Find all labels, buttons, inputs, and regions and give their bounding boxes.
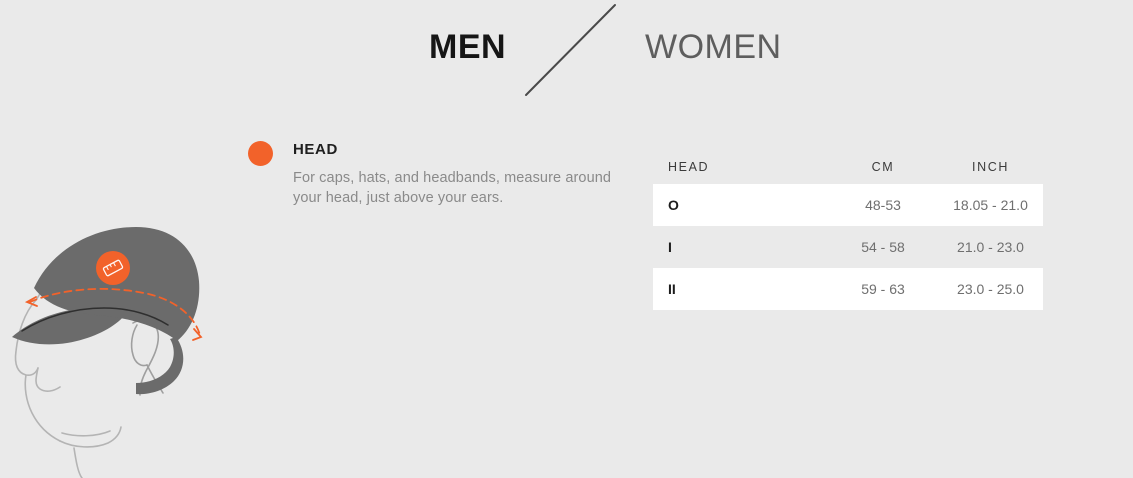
- measure-info-header: HEAD: [248, 138, 628, 164]
- cell-inch: 21.0 - 23.0: [938, 239, 1043, 255]
- cell-inch: 18.05 - 21.0: [938, 197, 1043, 213]
- table-row[interactable]: I 54 - 58 21.0 - 23.0: [653, 226, 1043, 268]
- measure-info-block: HEAD For caps, hats, and headbands, meas…: [248, 138, 628, 164]
- column-header-size: HEAD: [653, 160, 828, 174]
- measure-badge: [96, 251, 130, 285]
- measure-arrow-right-icon: [193, 329, 201, 340]
- cell-cm: 48-53: [828, 197, 938, 213]
- cell-inch: 23.0 - 25.0: [938, 281, 1043, 297]
- measure-info-description: For caps, hats, and headbands, measure a…: [293, 168, 623, 208]
- size-table: HEAD CM INCH O 48-53 18.05 - 21.0 I 54 -…: [653, 150, 1043, 310]
- table-row[interactable]: II 59 - 63 23.0 - 25.0: [653, 268, 1043, 310]
- column-header-inch: INCH: [938, 160, 1043, 174]
- measure-point-dot-icon: [248, 141, 273, 166]
- cap-head-illustration: [0, 205, 250, 478]
- tab-separator-slash-icon: [515, 0, 625, 100]
- column-header-cm: CM: [828, 160, 938, 174]
- cell-size: II: [653, 281, 828, 297]
- table-row[interactable]: O 48-53 18.05 - 21.0: [653, 184, 1043, 226]
- cell-size: O: [653, 197, 828, 213]
- cell-size: I: [653, 239, 828, 255]
- cell-cm: 59 - 63: [828, 281, 938, 297]
- gender-tab-group: MEN WOMEN: [0, 0, 1133, 100]
- measure-info-title: HEAD: [293, 141, 338, 158]
- tab-women[interactable]: WOMEN: [645, 27, 782, 67]
- size-guide-panel: MEN WOMEN: [0, 0, 1133, 478]
- cell-cm: 54 - 58: [828, 239, 938, 255]
- tab-men[interactable]: MEN: [429, 27, 506, 67]
- table-header-row: HEAD CM INCH: [653, 150, 1043, 184]
